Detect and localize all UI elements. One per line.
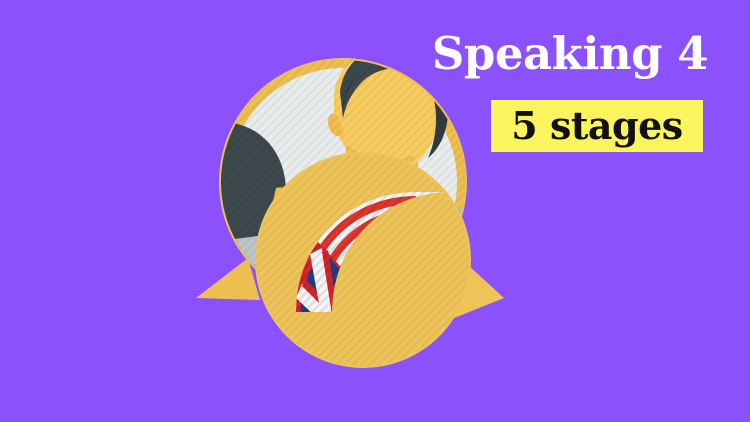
poster-canvas: Speaking 4 5 stages (0, 0, 750, 422)
page-title: Speaking 4 (420, 28, 720, 80)
stages-badge: 5 stages (491, 100, 703, 152)
stages-badge-label: 5 stages (511, 107, 682, 145)
